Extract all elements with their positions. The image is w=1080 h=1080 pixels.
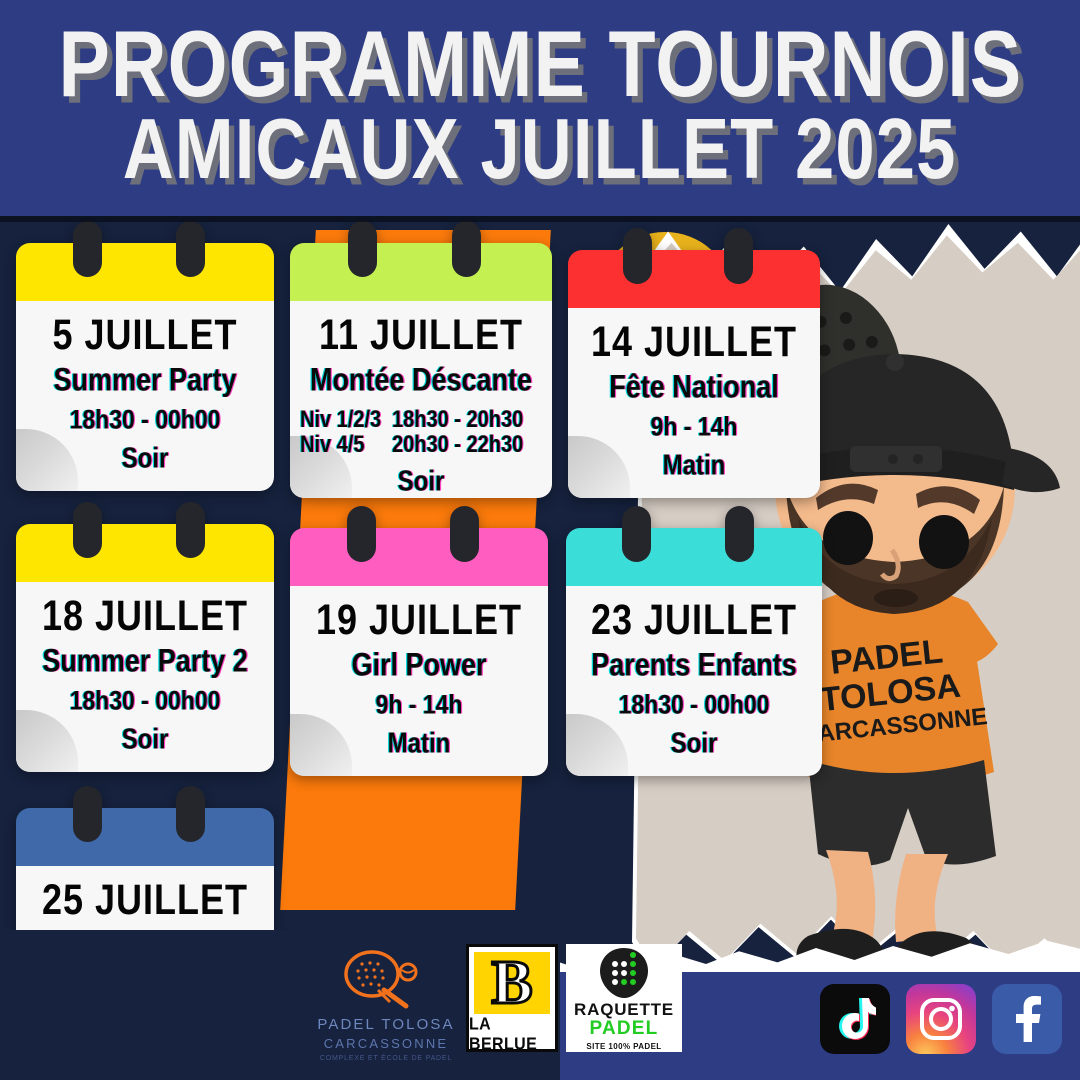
card-period: Soir: [24, 445, 266, 473]
event-card-5-juillet[interactable]: 5 JUILLET Summer Party 18h30 - 00h00 Soi…: [16, 243, 274, 491]
card-period: Soir: [24, 726, 266, 754]
level-label: Niv 4/5: [300, 431, 392, 461]
card-title: Girl Power: [298, 649, 540, 681]
la-berlue-mark: B: [474, 952, 550, 1014]
raquette-line-3: SITE 100% PADEL: [586, 1042, 661, 1051]
card-title: Summer Party 2: [24, 645, 266, 677]
card-header-band: [16, 243, 274, 301]
header-title-line2: AMICAUX JUILLET 2025: [123, 109, 957, 188]
logo-city: CARCASSONNE: [324, 1036, 449, 1051]
header-title-line1: PROGRAMME TOURNOIS: [58, 22, 1022, 108]
card-header-band: [16, 808, 274, 866]
calendar-ring-icon: [725, 506, 754, 562]
calendar-rings: [290, 221, 552, 281]
card-body: 18 JUILLET Summer Party 2 18h30 - 00h00 …: [16, 582, 274, 772]
calendar-rings: [16, 786, 274, 846]
calendar-ring-icon: [348, 221, 377, 277]
card-body: 14 JUILLET Fête National 9h - 14h Matin: [568, 308, 820, 498]
card-time: 18h30 - 00h00: [574, 691, 814, 718]
event-card-18-juillet[interactable]: 18 JUILLET Summer Party 2 18h30 - 00h00 …: [16, 524, 274, 772]
logo-la-berlue[interactable]: B LA BERLUE: [466, 944, 558, 1052]
calendar-rings: [16, 502, 274, 562]
facebook-icon[interactable]: [992, 984, 1062, 1054]
card-time: 9h - 14h: [576, 413, 812, 440]
calendar-ring-icon: [73, 786, 102, 842]
card-title: Parents Enfants: [574, 649, 814, 681]
calendar-rings: [566, 506, 822, 566]
card-period: Soir: [574, 730, 814, 758]
card-period: Matin: [576, 452, 812, 480]
calendar-rings: [290, 506, 548, 566]
la-berlue-letter: B: [491, 952, 532, 1014]
poster-root: PADEL TOLOSA CARCASSONNE: [0, 0, 1080, 1080]
header-shadow: [0, 216, 1080, 222]
calendar-ring-icon: [622, 506, 651, 562]
padel-racket-icon: [330, 950, 442, 1012]
logo-padel-tolosa[interactable]: PADEL TOLOSA CARCASSONNE COMPLEXE ET ÉCO…: [296, 940, 476, 1062]
card-time: 18h30 - 00h00: [24, 406, 266, 433]
card-date: 14 JUILLET: [576, 321, 812, 363]
level-row: Niv 4/5 20h30 - 22h30: [298, 431, 544, 461]
raquette-line-2: PADEL: [590, 1018, 659, 1040]
calendar-rings: [16, 221, 274, 281]
card-header-band: [566, 528, 822, 586]
card-header-band: [568, 250, 820, 308]
card-body: 19 JUILLET Girl Power 9h - 14h Matin: [290, 586, 548, 776]
tiktok-icon[interactable]: [820, 984, 890, 1054]
card-date: 11 JUILLET: [298, 314, 544, 356]
event-card-19-juillet[interactable]: 19 JUILLET Girl Power 9h - 14h Matin: [290, 528, 548, 776]
card-body: 5 JUILLET Summer Party 18h30 - 00h00 Soi…: [16, 301, 274, 491]
card-header-band: [290, 243, 552, 301]
calendar-ring-icon: [724, 228, 753, 284]
calendar-ring-icon: [347, 506, 376, 562]
card-date: 18 JUILLET: [24, 595, 266, 637]
card-body: 11 JUILLET Montée Déscante Niv 1/2/3 18h…: [290, 301, 552, 498]
logo-raquette-padel[interactable]: RAQUETTE PADEL SITE 100% PADEL: [566, 944, 682, 1052]
card-period: Soir: [298, 468, 544, 496]
card-header-band: [290, 528, 548, 586]
card-title: Summer Party: [24, 364, 266, 396]
calendar-rings: [568, 228, 820, 288]
card-period: Matin: [298, 730, 540, 758]
card-level-rows: Niv 1/2/3 18h30 - 20h30 Niv 4/5 20h30 - …: [298, 408, 544, 458]
card-date: 23 JUILLET: [574, 599, 814, 641]
card-date: 5 JUILLET: [24, 314, 266, 356]
level-time: 20h30 - 22h30: [392, 431, 542, 461]
raquette-padel-icon: [597, 946, 651, 1000]
card-time: 18h30 - 00h00: [24, 687, 266, 714]
calendar-ring-icon: [73, 502, 102, 558]
logo-name: PADEL TOLOSA: [317, 1016, 454, 1033]
calendar-ring-icon: [176, 221, 205, 277]
poster-header: PROGRAMME TOURNOIS AMICAUX JUILLET 2025: [0, 0, 1080, 216]
calendar-ring-icon: [450, 506, 479, 562]
calendar-ring-icon: [452, 221, 481, 277]
card-date: 25 JUILLET: [24, 879, 266, 921]
card-title: Fête National: [576, 371, 812, 403]
event-card-11-juillet[interactable]: 11 JUILLET Montée Déscante Niv 1/2/3 18h…: [290, 243, 552, 498]
event-card-23-juillet[interactable]: 23 JUILLET Parents Enfants 18h30 - 00h00…: [566, 528, 822, 776]
card-date: 19 JUILLET: [298, 599, 540, 641]
la-berlue-name: LA BERLUE: [469, 1015, 555, 1055]
card-time: 9h - 14h: [298, 691, 540, 718]
calendar-ring-icon: [176, 502, 205, 558]
instagram-icon[interactable]: [906, 984, 976, 1054]
logo-subtitle: COMPLEXE ET ÉCOLE DE PADEL: [320, 1055, 452, 1062]
raquette-line-1: RAQUETTE: [574, 1000, 674, 1020]
social-links: [820, 984, 1062, 1054]
event-card-14-juillet[interactable]: 14 JUILLET Fête National 9h - 14h Matin: [568, 250, 820, 498]
card-body: 23 JUILLET Parents Enfants 18h30 - 00h00…: [566, 586, 822, 776]
card-header-band: [16, 524, 274, 582]
calendar-ring-icon: [73, 221, 102, 277]
calendar-ring-icon: [176, 786, 205, 842]
calendar-ring-icon: [623, 228, 652, 284]
card-title: Montée Déscante: [298, 364, 544, 396]
